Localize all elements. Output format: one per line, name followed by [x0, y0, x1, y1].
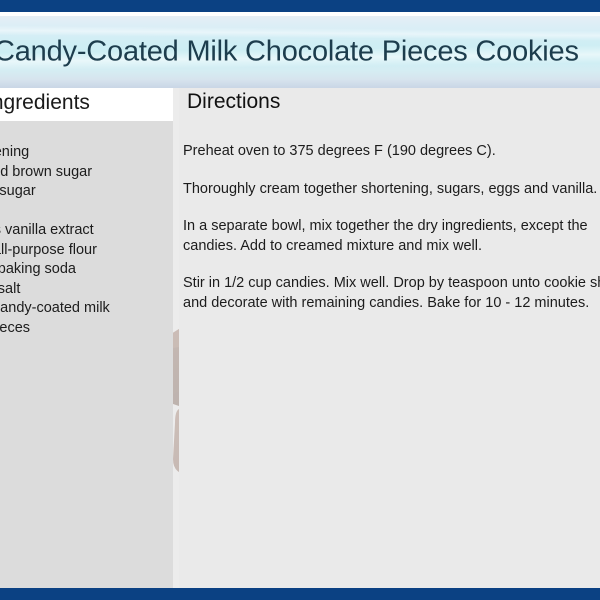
list-item: 2 1/2 cups all-purpose flour [0, 241, 167, 261]
ingredients-panel: Ingredients 1 cup shortening 1 cup packe… [0, 88, 173, 588]
ingredient-list: 1 cup shortening 1 cup packed brown suga… [0, 121, 173, 338]
direction-step: Preheat oven to 375 degrees F (190 degre… [183, 142, 600, 162]
page-title: Candy-Coated Milk Chocolate Pieces Cooki… [0, 36, 579, 69]
window-chrome-bottom [0, 588, 600, 600]
list-item: 1 cup packed brown sugar [0, 163, 167, 183]
window-chrome-top [0, 0, 600, 12]
main-content: Ingredients 1 cup shortening 1 cup packe… [0, 88, 600, 588]
list-item: chocolate pieces [0, 319, 167, 339]
list-item: 1 cup white sugar [0, 182, 167, 202]
directions-heading: Directions [183, 89, 292, 117]
page-banner: Candy-Coated Milk Chocolate Pieces Cooki… [0, 16, 600, 88]
directions-body: Preheat oven to 375 degrees F (190 degre… [179, 121, 600, 588]
ingredients-heading: Ingredients [0, 90, 100, 118]
recipe-page: Candy-Coated Milk Chocolate Pieces Cooki… [0, 0, 600, 600]
list-item: 2 teaspoons vanilla extract [0, 221, 167, 241]
list-item: 1 teaspoon baking soda [0, 260, 167, 280]
list-item: 1 1/2 cups candy-coated milk [0, 299, 167, 319]
ingredients-body: 1 cup shortening 1 cup packed brown suga… [0, 121, 173, 588]
direction-step: Stir in 1/2 cup candies. Mix well. Drop … [183, 274, 600, 313]
direction-step: Thoroughly cream together shortening, su… [183, 180, 600, 200]
list-item: 1 teaspoon salt [0, 280, 167, 300]
direction-step: In a separate bowl, mix together the dry… [183, 217, 600, 256]
list-item: 2 eggs [0, 202, 167, 222]
list-item: 1 cup shortening [0, 143, 167, 163]
directions-heading-row: Directions [179, 88, 600, 121]
ingredients-heading-row: Ingredients [0, 88, 173, 121]
directions-panel: Directions Preheat oven to 375 degrees F… [179, 88, 600, 588]
